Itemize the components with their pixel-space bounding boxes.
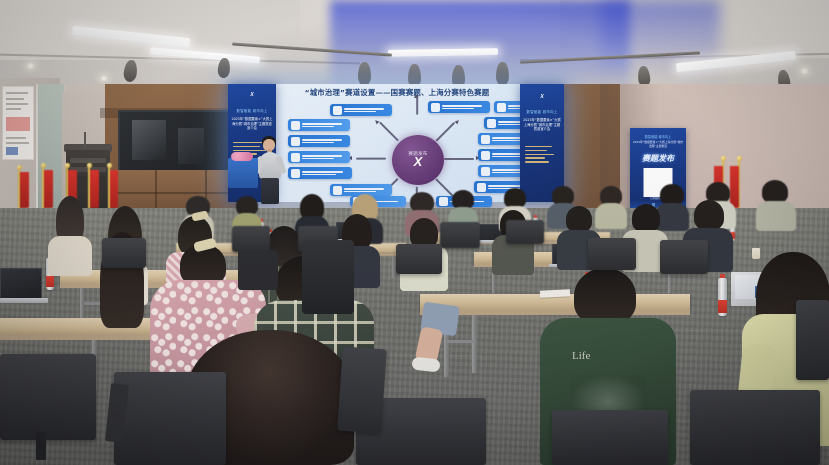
star-icon [431, 103, 440, 112]
chair-foreground[interactable] [552, 410, 668, 465]
chair[interactable] [396, 244, 442, 274]
factory-icon [291, 153, 300, 162]
gear-icon [333, 106, 342, 115]
hub-node[interactable]: 赛题发布 X [392, 135, 444, 185]
banner-logo-icon: X [540, 94, 543, 100]
chart-icon [291, 121, 300, 130]
tshirt-text: Life [572, 350, 598, 360]
rollup-subtitle: 2025年“数据要素×”大赛上海分赛“城市治理”主题赛道 [632, 140, 684, 148]
paper-cup [752, 248, 760, 259]
flower-arrangement [231, 152, 253, 161]
camera-icon [497, 103, 506, 112]
chair-foreground[interactable] [0, 354, 96, 440]
conference-room-photo: “城市治理”赛道设置——国赛赛题、上海分赛特色赛题 赛题发布 X [0, 0, 829, 465]
table-edge [420, 309, 690, 315]
chair[interactable] [102, 238, 146, 268]
network-icon [481, 151, 490, 160]
tv-glare [178, 128, 204, 164]
chair-side[interactable] [796, 300, 829, 380]
laptop[interactable] [0, 268, 42, 300]
side-table [228, 158, 258, 188]
slide-chip-left-3[interactable] [288, 135, 350, 147]
slide-chip-left-1[interactable] [330, 104, 392, 116]
slide-chip-label [442, 105, 490, 109]
chair-seat[interactable] [238, 250, 278, 290]
monitor-icon [481, 135, 490, 144]
tv-glare [132, 120, 166, 160]
slide-title: “城市治理”赛道设置——国赛赛题、上海分赛特色赛题 [236, 87, 558, 99]
banner-tagline: 数智赋能 城市向上 [524, 109, 560, 114]
slide-chip-left-4[interactable] [288, 151, 350, 163]
banner-headline: 2025年“数据要素×”大赛上海分赛“城市治理”主题赛道宣介会 [523, 118, 561, 132]
slide-chip-label [302, 123, 350, 127]
banner-headline: 2025年“数据要素×”大赛上海分赛“城市治理”主题赛道宣介会 [231, 117, 273, 131]
banner-logo-icon: X [250, 92, 253, 98]
slide-chip-label [302, 155, 350, 159]
stage-banner-right: X 数智赋能 城市向上 2025年“数据要素×”大赛上海分赛“城市治理”主题赛道… [520, 84, 564, 202]
grid-icon [333, 186, 342, 195]
cloud-icon [487, 119, 496, 128]
building-icon [291, 137, 300, 146]
banner-tagline: 数智赋能 城市向上 [232, 108, 272, 113]
table-leg [472, 315, 477, 373]
rollup-tagline: 数智赋能 城市向上 [632, 134, 684, 139]
chair-stem [36, 432, 46, 460]
chair-foreground[interactable] [337, 347, 387, 434]
slide-chip-right-1[interactable] [428, 101, 490, 113]
slide-chip-left-2[interactable] [288, 119, 350, 131]
speaker-legs [261, 178, 279, 204]
globe-icon [439, 197, 448, 206]
chair-foreground[interactable] [114, 372, 226, 465]
chair[interactable] [232, 226, 270, 252]
chair-mesh-back[interactable] [302, 240, 354, 314]
slide-chip-label [302, 139, 350, 143]
chair[interactable] [440, 222, 480, 248]
chair-foreground[interactable] [690, 390, 820, 465]
shield-icon [291, 169, 300, 178]
table-leg [80, 288, 84, 322]
rollup-hero-text: 赛题发布 [633, 153, 683, 164]
chair[interactable] [660, 240, 708, 274]
slide-chip-label [344, 108, 392, 112]
table-leg [392, 256, 395, 278]
banner-bullet-lines [525, 146, 559, 163]
chair[interactable] [506, 220, 544, 244]
ceiling-downlight [100, 76, 108, 81]
microphone-stand [84, 132, 86, 148]
water-bottle[interactable] [718, 278, 727, 316]
laptop-base [0, 298, 48, 303]
ceiling-downlight [800, 68, 809, 74]
bar-icon [481, 167, 490, 176]
chair[interactable] [588, 238, 636, 270]
table-rail [446, 340, 476, 343]
ceiling-downlight [26, 63, 35, 69]
wall-poster [2, 86, 34, 160]
slide-chip-label [344, 188, 392, 192]
hub-logo-icon: X [392, 154, 444, 169]
slide-chip-label [302, 171, 352, 175]
trend-icon [477, 183, 486, 192]
slide-chip-left-5[interactable] [288, 167, 352, 179]
